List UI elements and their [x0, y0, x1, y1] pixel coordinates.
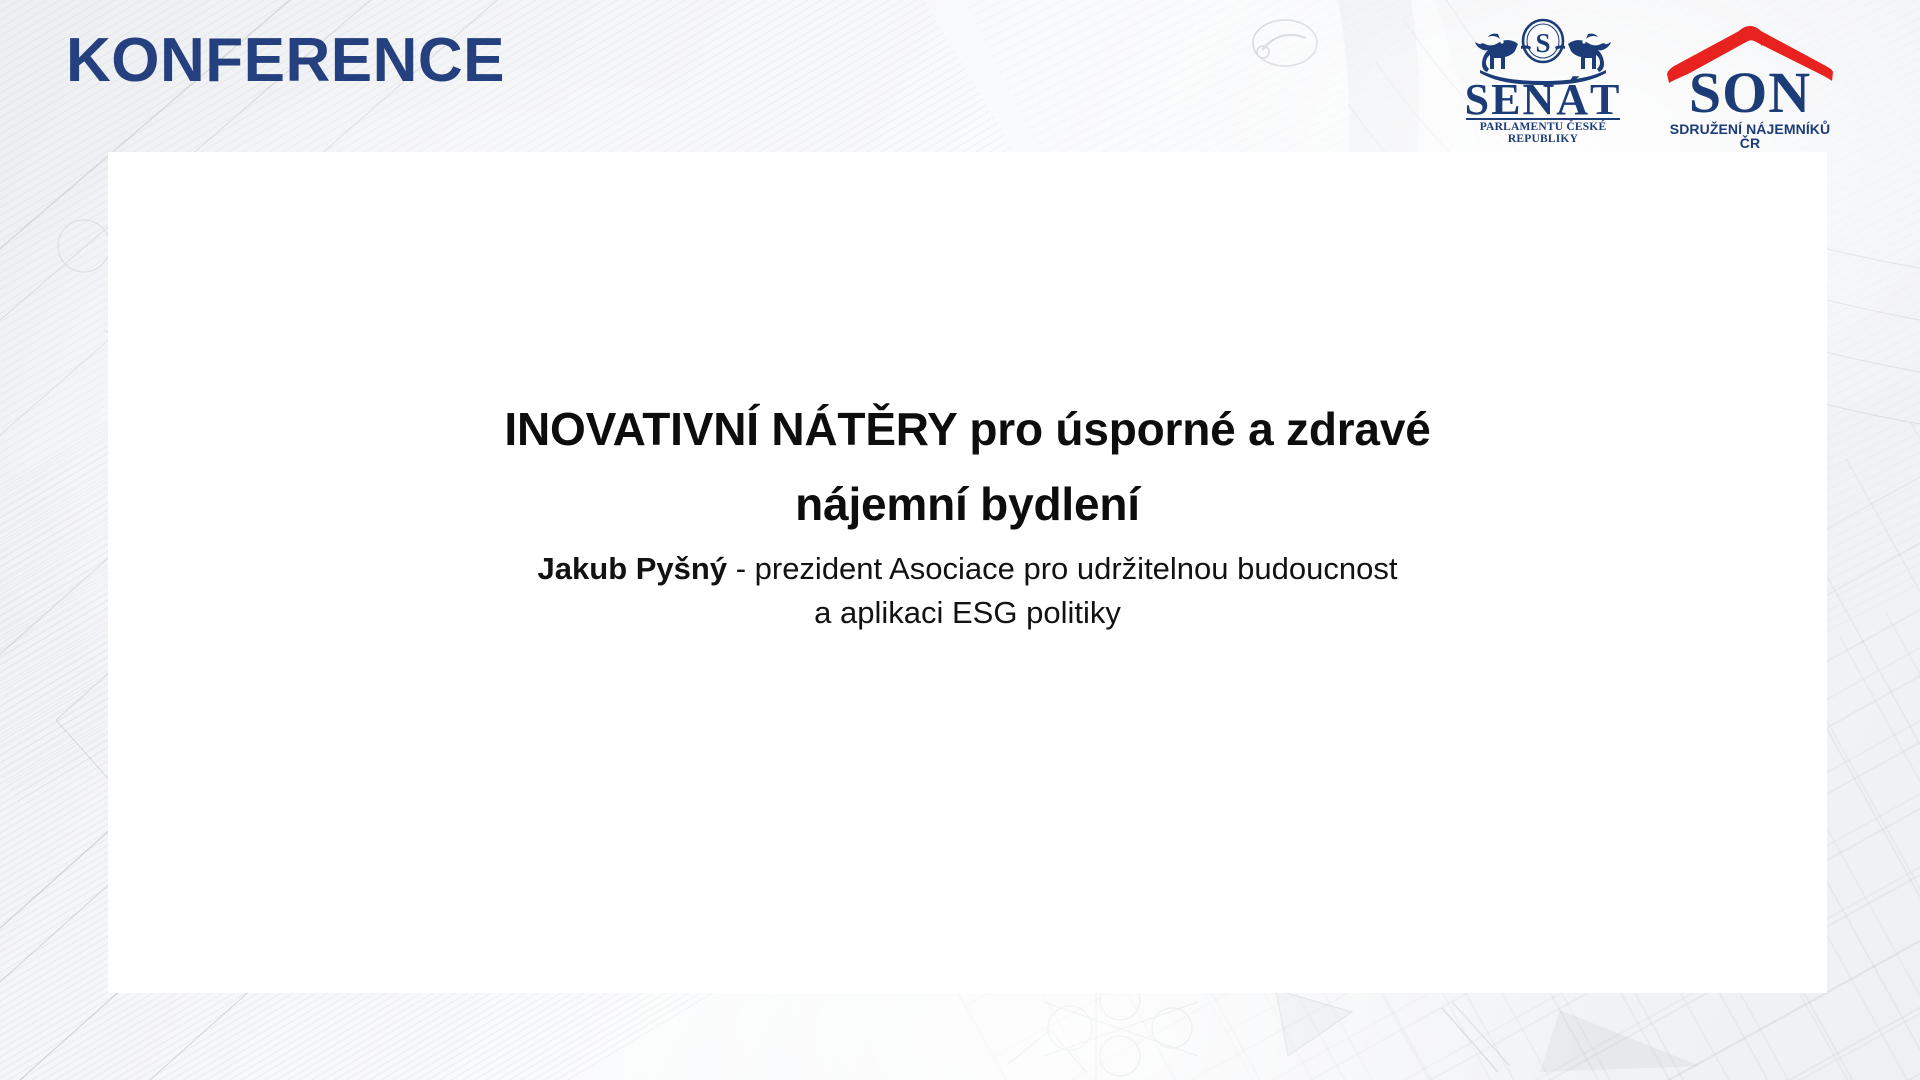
- title-block: INOVATIVNÍ NÁTĚRY pro úsporné a zdravé n…: [218, 392, 1717, 635]
- presentation-slide: KONFERENCE S: [0, 0, 1920, 1080]
- slide-title-line-2: nájemní bydlení: [218, 467, 1717, 542]
- presenter-role: - prezident Asociace pro udržitelnou bud…: [727, 551, 1397, 586]
- son-wordmark: SON: [1662, 64, 1838, 122]
- presenter-line: Jakub Pyšný - prezident Asociace pro udr…: [218, 547, 1717, 591]
- svg-text:S: S: [1535, 28, 1550, 58]
- logo-group: S: [1458, 18, 1838, 140]
- senat-subtitle: PARLAMENTU ČESKÉ REPUBLIKY: [1458, 122, 1628, 145]
- senat-divider: [1466, 118, 1620, 120]
- senat-wordmark: SENÁT: [1458, 78, 1628, 122]
- son-logo: SON SDRUŽENÍ NÁJEMNÍKŮ ČR: [1662, 18, 1838, 140]
- presenter-name: Jakub Pyšný: [538, 551, 728, 586]
- senat-logo: S: [1458, 18, 1628, 140]
- slide-title-line-1: INOVATIVNÍ NÁTĚRY pro úsporné a zdravé: [218, 392, 1717, 467]
- page-title: KONFERENCE: [66, 28, 505, 93]
- content-card-body: INOVATIVNÍ NÁTĚRY pro úsporné a zdravé n…: [108, 152, 1827, 993]
- content-card: INOVATIVNÍ NÁTĚRY pro úsporné a zdravé n…: [108, 152, 1827, 993]
- presenter-role-line-2: a aplikaci ESG politiky: [218, 591, 1717, 635]
- son-subtitle: SDRUŽENÍ NÁJEMNÍKŮ ČR: [1662, 122, 1838, 150]
- slide-header: KONFERENCE S: [0, 0, 1920, 152]
